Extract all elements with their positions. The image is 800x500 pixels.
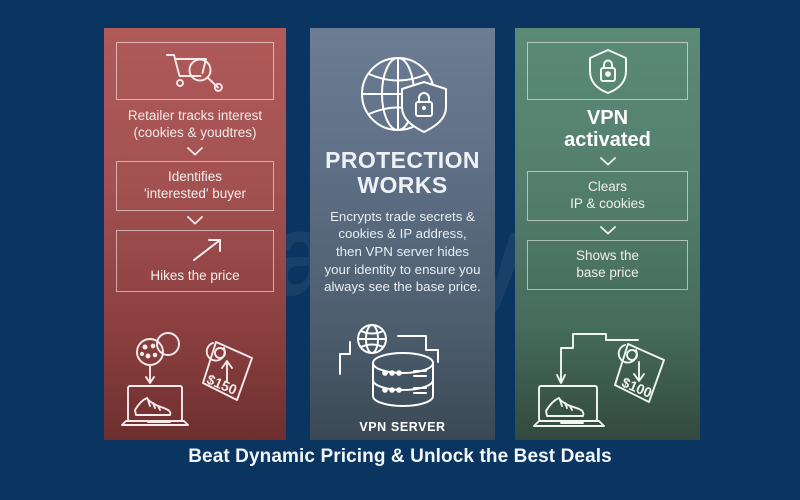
globe-shield-icon-box bbox=[322, 52, 483, 140]
panel3-step-1: Clears IP & cookies bbox=[527, 171, 688, 221]
panel2-title-line2: WORKS bbox=[322, 173, 483, 198]
panel1-step2-line1: Hikes the price bbox=[150, 268, 239, 285]
panel2-body-text: Encrypts trade secrets & cookies & IP ad… bbox=[322, 208, 483, 296]
globe-icon bbox=[358, 325, 386, 353]
panel1-step-2: Hikes the price bbox=[116, 230, 274, 292]
cookies-icon bbox=[137, 333, 179, 365]
panel1-step1-line2: 'interested' buyer bbox=[144, 186, 246, 203]
chevron-down-icon bbox=[600, 226, 616, 235]
laptop-shoe-icon bbox=[534, 386, 604, 426]
chevron-down-icon bbox=[600, 157, 616, 166]
globe-shield-lock-icon bbox=[356, 52, 450, 140]
panel1-step-1: Identifies 'interested' buyer bbox=[116, 161, 274, 211]
panel3-step2-line1: Shows the bbox=[576, 248, 639, 265]
panel-vpn-activated: VPN activated Clears IP & cookies Shows … bbox=[515, 28, 700, 440]
vpn-server-label: VPN SERVER bbox=[328, 420, 478, 434]
footer-headline: Beat Dynamic Pricing & Unlock the Best D… bbox=[0, 446, 800, 468]
panel2-bottom-art: VPN SERVER bbox=[310, 322, 495, 434]
panel1-header-line2: (cookies & youdtres) bbox=[118, 125, 272, 142]
panel3-step2-line2: base price bbox=[576, 265, 639, 282]
panel1-header-line1: Retailer tracks interest bbox=[118, 108, 272, 125]
panel3-title-line2: activated bbox=[527, 129, 688, 151]
laptop-shoe-icon bbox=[122, 386, 188, 425]
vpn-server-diagram-icon bbox=[328, 322, 478, 418]
chevron-down-icon bbox=[187, 216, 203, 225]
cart-search-icon-box bbox=[116, 42, 274, 100]
cart-search-icon bbox=[163, 49, 227, 93]
panel1-bottom-art: $150 bbox=[104, 330, 286, 434]
panel3-step-2: Shows the base price bbox=[527, 240, 688, 290]
panel2-title: PROTECTION WORKS bbox=[322, 148, 483, 198]
panel1-price-label: $150 bbox=[204, 371, 239, 398]
panel1-header-label: Retailer tracks interest (cookies & youd… bbox=[116, 100, 274, 142]
infographic-canvas: safelyo Retailer tracks interest (c bbox=[0, 0, 800, 500]
cookies-laptop-pricetag-art: $150 bbox=[120, 330, 270, 434]
shield-lock-icon-box bbox=[527, 42, 688, 100]
shield-lock-badge bbox=[402, 82, 446, 132]
panel1-step1-line1: Identifies bbox=[144, 169, 246, 186]
panel3-bottom-art: $100 bbox=[515, 330, 700, 434]
database-icon bbox=[373, 353, 433, 406]
chevron-down-icon bbox=[187, 147, 203, 156]
panel2-title-line1: PROTECTION bbox=[322, 148, 483, 173]
panel3-title-line1: VPN bbox=[527, 107, 688, 129]
laptop-pricetag-drop-art: $100 bbox=[533, 330, 683, 434]
arrow-up-right-icon bbox=[191, 237, 225, 263]
panel3-step1-line2: IP & cookies bbox=[570, 196, 645, 213]
panel3-step1-line1: Clears bbox=[570, 179, 645, 196]
panel-retailer-tracking: Retailer tracks interest (cookies & youd… bbox=[104, 28, 286, 440]
panel3-title: VPN activated bbox=[527, 107, 688, 152]
shield-lock-icon bbox=[587, 47, 629, 95]
panel-protection-works: PROTECTION WORKS Encrypts trade secrets … bbox=[310, 28, 495, 440]
